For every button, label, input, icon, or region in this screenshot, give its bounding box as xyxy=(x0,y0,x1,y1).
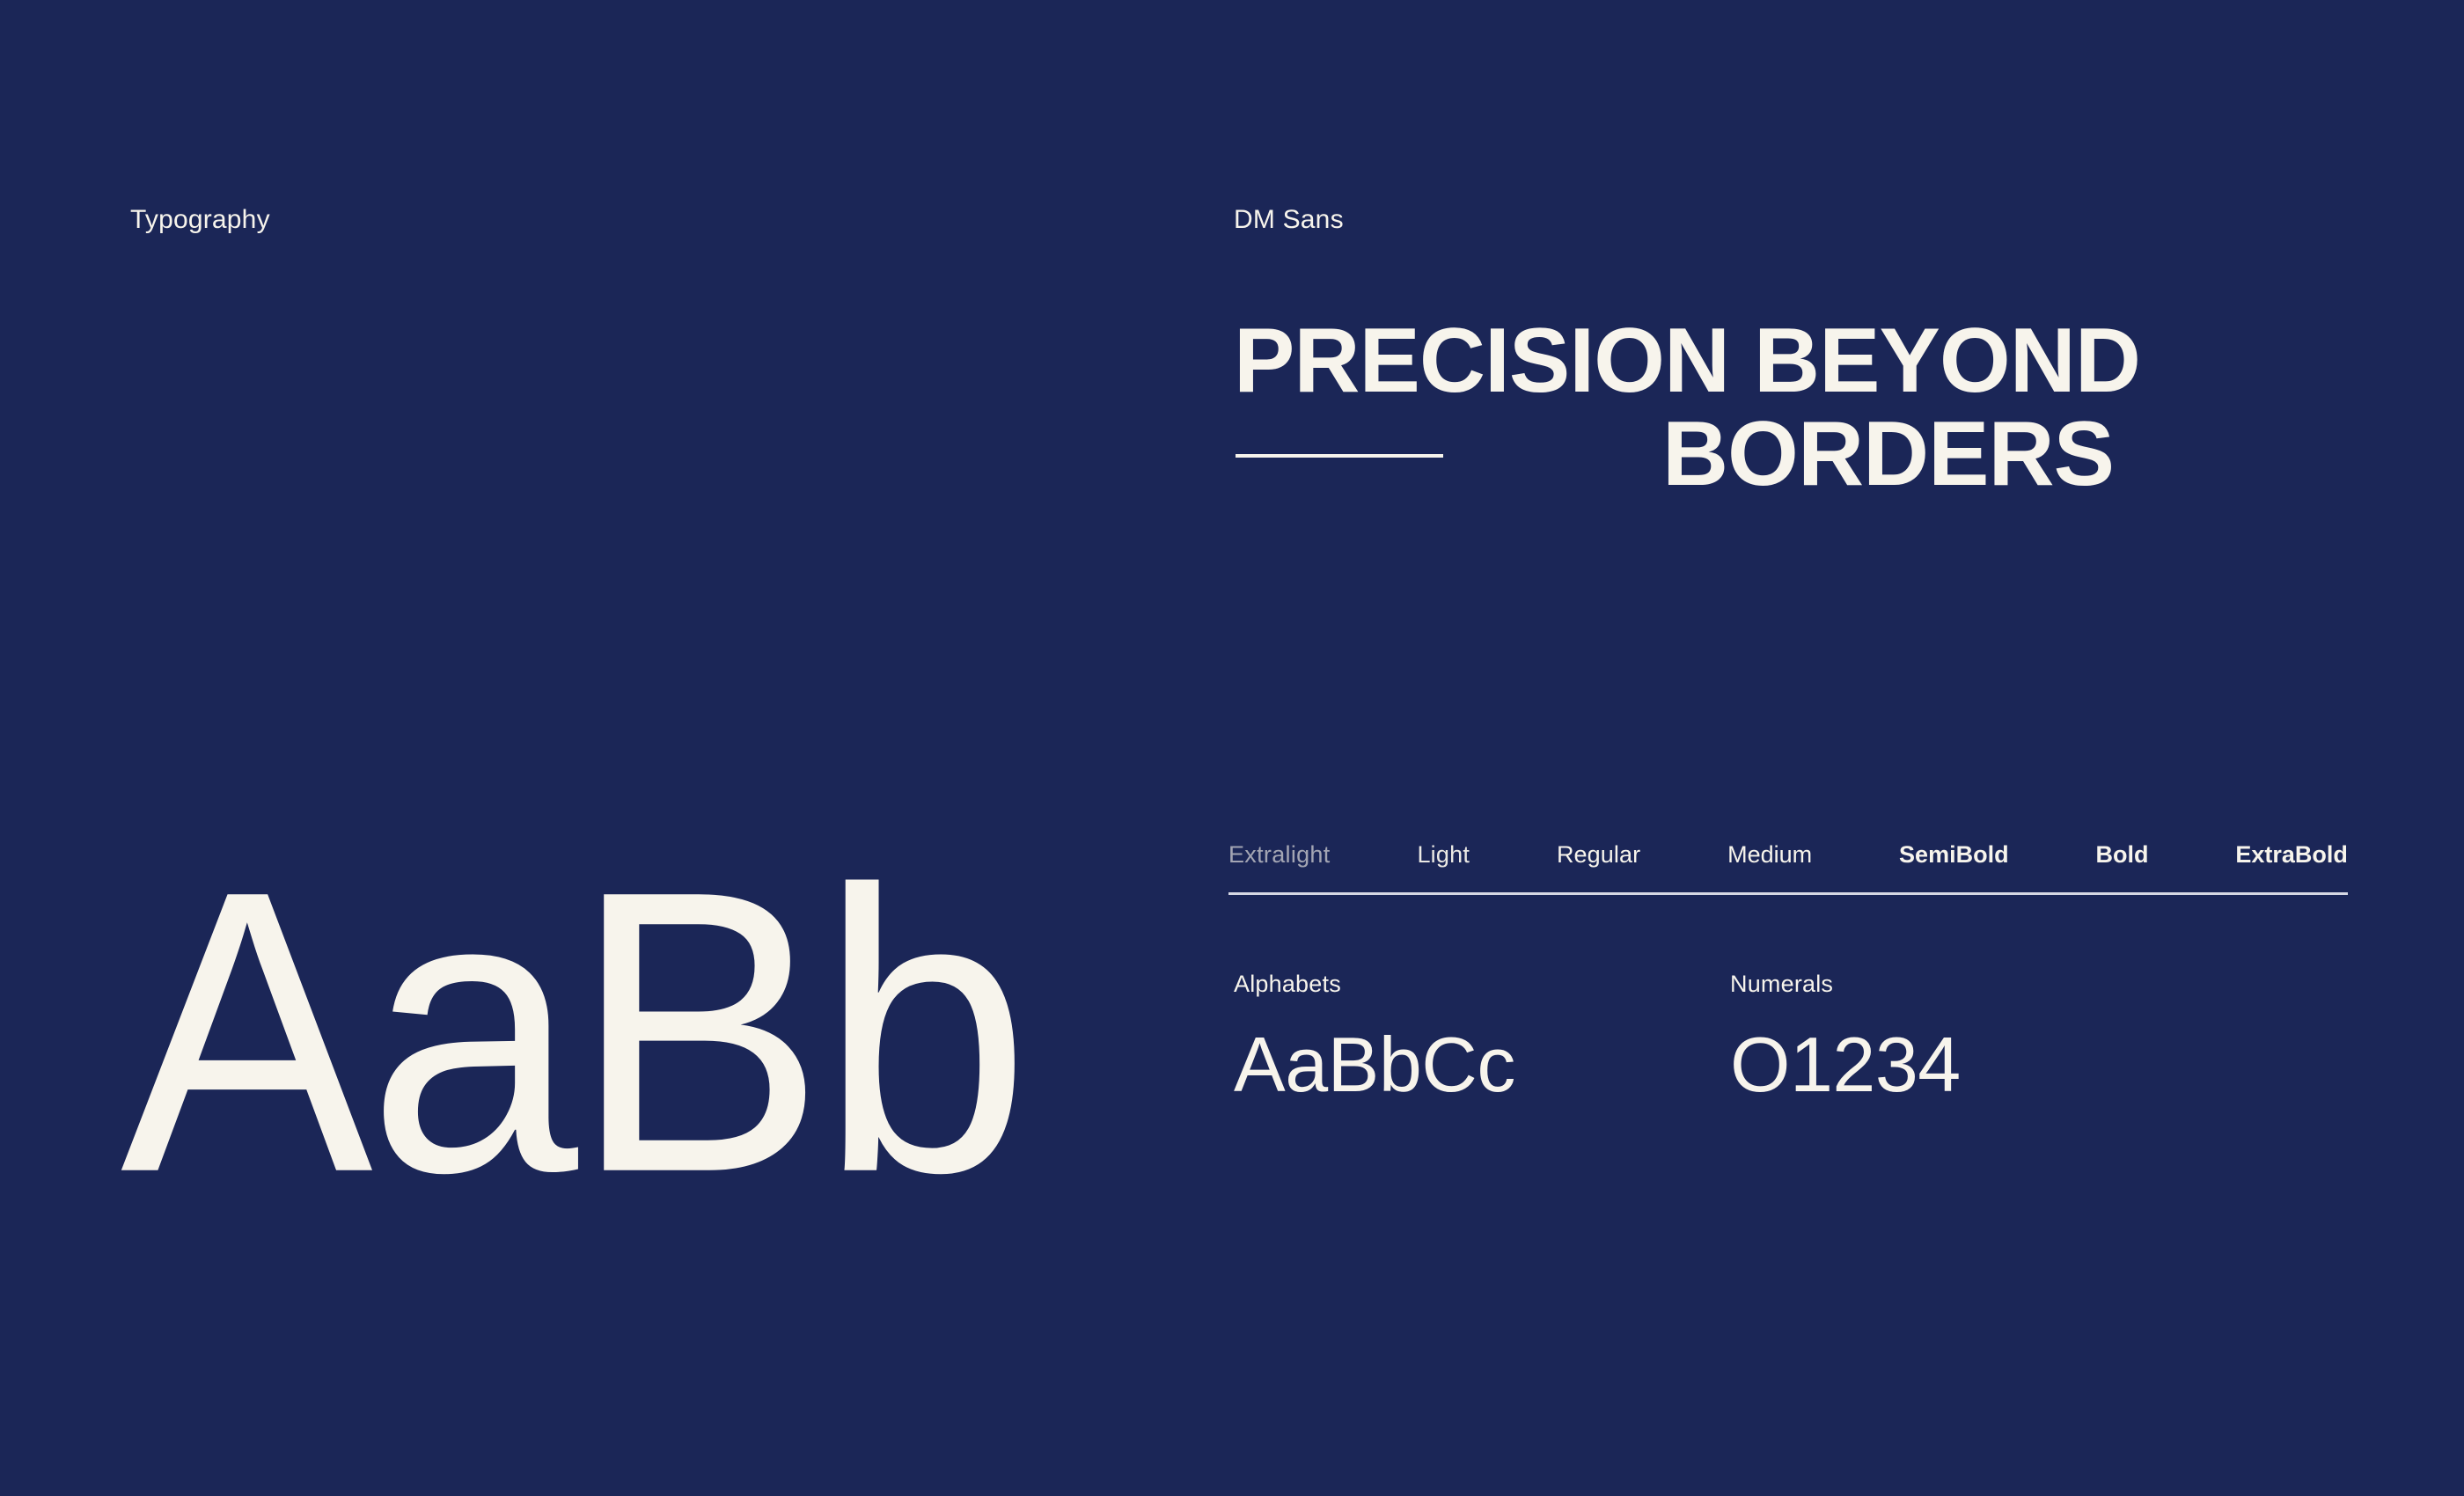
font-weight-scale: Extralight Light Regular Medium SemiBold… xyxy=(1228,843,2348,867)
typography-style-board: Typography AaBb DM Sans PRECISION BEYOND… xyxy=(0,0,2464,1496)
specimen-caption-numerals: Numerals xyxy=(1730,972,1961,996)
weight-label-light: Light xyxy=(1417,843,1470,867)
section-label-typography: Typography xyxy=(130,205,270,234)
headline-accent-rule xyxy=(1236,454,1443,458)
specimen-group-numerals: Numerals O1234 xyxy=(1730,972,1961,1104)
specimen-sample-alphabets: AaBbCc xyxy=(1234,1026,1515,1104)
weight-label-medium: Medium xyxy=(1727,843,1812,867)
weight-label-extrabold: ExtraBold xyxy=(2235,843,2348,867)
specimen-sample-numerals: O1234 xyxy=(1730,1026,1961,1104)
weight-label-semibold: SemiBold xyxy=(1899,843,2009,867)
weight-label-regular: Regular xyxy=(1557,843,1640,867)
weight-label-bold: Bold xyxy=(2095,843,2148,867)
weight-label-extralight: Extralight xyxy=(1228,843,1331,867)
weights-divider-rule xyxy=(1228,892,2348,895)
specimen-group-alphabets: Alphabets AaBbCc xyxy=(1234,972,1515,1104)
headline-display: PRECISION BEYOND BORDERS xyxy=(1234,315,2114,500)
font-name-label: DM Sans xyxy=(1234,205,1344,234)
specimen-caption-alphabets: Alphabets xyxy=(1234,972,1515,996)
large-letterform-specimen: AaBb xyxy=(121,832,1025,1233)
headline-line-1: PRECISION BEYOND xyxy=(1234,315,2114,407)
